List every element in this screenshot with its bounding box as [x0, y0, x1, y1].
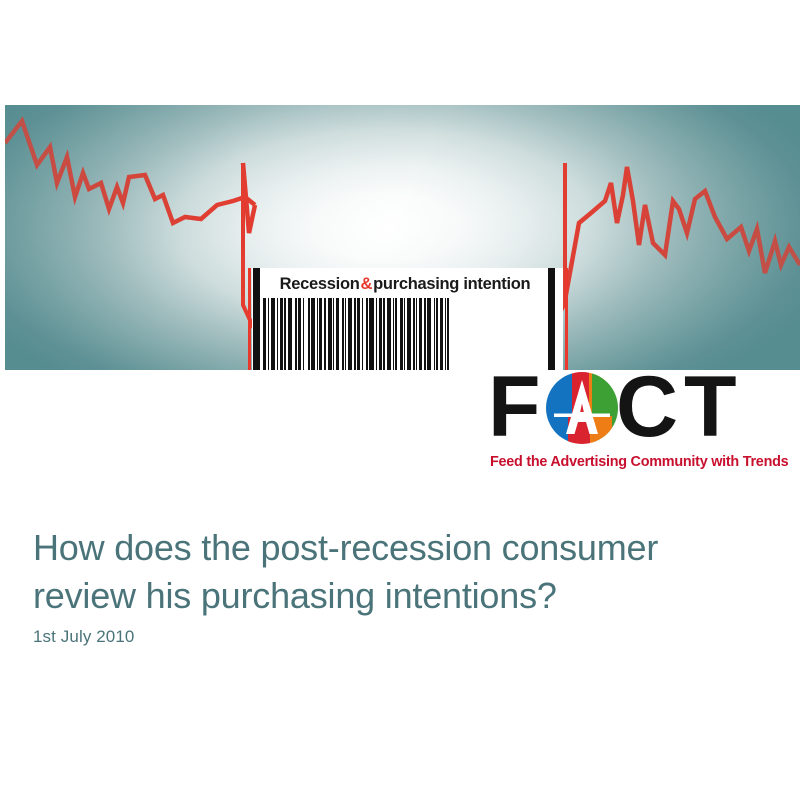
- barcode-bar: [268, 298, 269, 370]
- fact-logo-wordmark: F C T: [488, 370, 794, 452]
- barcode-bar: [336, 298, 339, 370]
- barcode-bar: [333, 298, 334, 370]
- barcode-bar: [317, 298, 318, 370]
- page-date: 1st July 2010: [33, 627, 134, 647]
- barcode-bar: [376, 298, 377, 370]
- barcode-title: Recession & purchasing intention: [266, 271, 544, 298]
- barcode-bar: [280, 298, 283, 370]
- barcode-bar: [295, 298, 297, 370]
- barcode-bar: [419, 298, 422, 370]
- barcode-title-prefix: Recession: [280, 275, 360, 294]
- barcode-bar: [271, 298, 275, 370]
- barcode-bar: [288, 298, 292, 370]
- barcode-bar: [445, 298, 446, 370]
- page-title: How does the post-recession consumer rev…: [33, 524, 763, 620]
- logo-tagline: Feed the Advertising Community with Tren…: [490, 454, 794, 470]
- barcode-bar: [319, 298, 322, 370]
- barcode-bar: [354, 298, 356, 370]
- barcode-bar: [324, 298, 326, 370]
- barcode-bar: [407, 298, 411, 370]
- barcode-bar: [328, 298, 332, 370]
- logo-letter-f: F: [488, 366, 539, 448]
- barcode-bar: [387, 298, 391, 370]
- barcode-title-suffix: purchasing intention: [373, 275, 530, 294]
- barcode-bar: [277, 298, 278, 370]
- barcode-bar: [383, 298, 385, 370]
- barcode-bar: [395, 298, 397, 370]
- barcode-bar: [416, 298, 417, 370]
- barcode-bar: [342, 298, 344, 370]
- barcode-bar: [413, 298, 415, 370]
- barcode-bar: [298, 298, 301, 370]
- barcode-rail-left-icon: [248, 268, 251, 370]
- barcode-guard-bar-right: [548, 268, 555, 370]
- barcode-bar: [427, 298, 431, 370]
- barcode-bar: [362, 298, 363, 370]
- barcode-bar: [284, 298, 286, 370]
- barcode-bar: [357, 298, 360, 370]
- barcode-bar: [379, 298, 382, 370]
- barcode-bar: [263, 298, 266, 370]
- barcode-bar: [447, 298, 449, 370]
- logo-letter-a-circle-icon: [546, 372, 618, 444]
- hero-banner-image: Recession & purchasing intention: [5, 105, 800, 370]
- barcode-graphic: Recession & purchasing intention: [248, 268, 568, 370]
- page-title-line-1: How does the post-recession consumer: [33, 527, 658, 568]
- logo-letter-a-cutout: [546, 372, 618, 444]
- fact-logo: F C T Feed the Advertising Community wit…: [488, 370, 794, 475]
- logo-letter-t: T: [684, 366, 735, 448]
- barcode-title-ampersand: &: [360, 275, 374, 294]
- page-title-line-2: review his purchasing intentions?: [33, 572, 763, 620]
- barcode-bar: [369, 298, 374, 370]
- barcode-guard-bar-left: [253, 268, 260, 370]
- barcode-bar: [308, 298, 310, 370]
- barcode-bar: [440, 298, 443, 370]
- barcode-bar: [404, 298, 405, 370]
- barcode-bar: [434, 298, 435, 370]
- barcode-bar: [436, 298, 438, 370]
- barcode-bar: [400, 298, 403, 370]
- barcode-bar: [424, 298, 426, 370]
- barcode-bar: [345, 298, 346, 370]
- barcode-bar: [366, 298, 368, 370]
- barcode-rail-right-icon: [565, 268, 568, 370]
- barcode-bar: [393, 298, 394, 370]
- barcode-bar: [303, 298, 304, 370]
- logo-letter-c: C: [616, 366, 676, 448]
- barcode-bar: [348, 298, 352, 370]
- barcode-bar: [311, 298, 315, 370]
